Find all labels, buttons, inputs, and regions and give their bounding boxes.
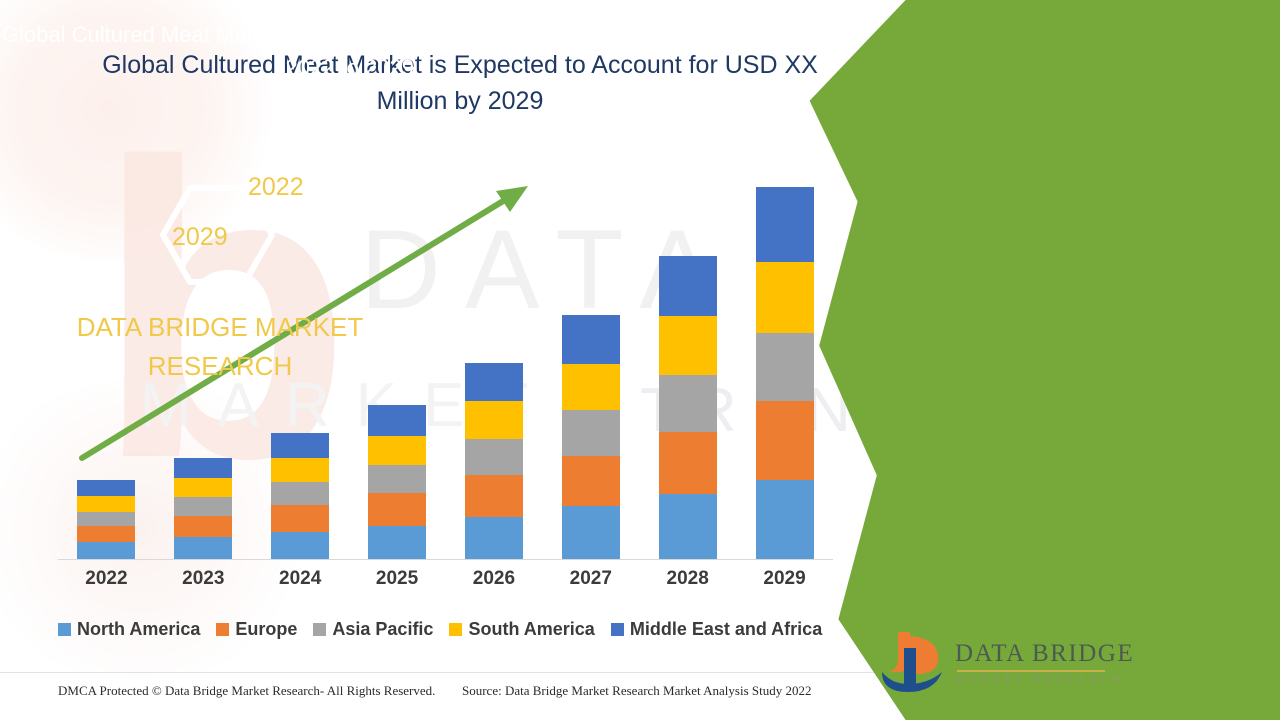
bar-segment	[271, 433, 329, 458]
legend-label: Asia Pacific	[332, 619, 433, 640]
bar-2025	[368, 405, 426, 559]
bar-segment	[659, 432, 717, 495]
bar-segment	[465, 475, 523, 516]
bar-segment	[77, 542, 135, 559]
x-axis-line	[58, 559, 833, 560]
logo-divider	[957, 670, 1105, 672]
bar-segment	[562, 506, 620, 559]
bar-segment	[368, 405, 426, 435]
bar-segment	[271, 458, 329, 482]
x-axis-label-2026: 2026	[465, 568, 523, 590]
bar-segment	[465, 439, 523, 475]
bar-segment	[174, 478, 232, 497]
legend-item[interactable]: North America	[58, 619, 200, 640]
bar-segment	[77, 496, 135, 511]
legend-label: Middle East and Africa	[630, 619, 822, 640]
logo-mark-icon	[880, 628, 960, 696]
logo-subtitle: MARKET RESEARCH	[955, 673, 1134, 685]
legend-swatch-icon	[216, 623, 229, 636]
legend-swatch-icon	[313, 623, 326, 636]
x-axis-labels: 20222023202420252026202720282029	[58, 568, 833, 598]
bar-segment	[756, 187, 814, 262]
legend-label: South America	[468, 619, 594, 640]
x-axis-label-2022: 2022	[77, 568, 135, 590]
bar-segment	[659, 494, 717, 559]
legend-label: North America	[77, 619, 200, 640]
bar-segment	[174, 537, 232, 559]
footer-divider	[0, 672, 960, 673]
bar-segment	[659, 375, 717, 432]
x-axis-label-2028: 2028	[659, 568, 717, 590]
bar-segment	[174, 458, 232, 478]
bar-segment	[756, 262, 814, 333]
hexagon-label-start: 2022	[248, 173, 304, 202]
bar-segment	[562, 315, 620, 364]
bar-2022	[77, 480, 135, 559]
hexagon-shapes	[160, 130, 380, 290]
bar-segment	[368, 465, 426, 493]
bar-segment	[77, 512, 135, 526]
branding-panel	[800, 0, 1280, 720]
x-axis-label-2029: 2029	[756, 568, 814, 590]
legend-swatch-icon	[449, 623, 462, 636]
legend-label: Europe	[235, 619, 297, 640]
bar-2026	[465, 363, 523, 559]
bar-segment	[756, 480, 814, 559]
bar-segment	[465, 363, 523, 401]
x-axis-label-2023: 2023	[174, 568, 232, 590]
footer-copyright: DMCA Protected © Data Bridge Market Rese…	[58, 683, 435, 699]
bar-segment	[562, 364, 620, 411]
bar-2029	[756, 187, 814, 559]
bar-segment	[659, 256, 717, 317]
bar-segment	[271, 532, 329, 559]
panel-title: Global Cultured Meat Market, By Regions,…	[0, 18, 420, 84]
bar-segment	[562, 456, 620, 507]
hexagon-badges: 2022 2029	[160, 130, 380, 290]
legend-item[interactable]: Europe	[216, 619, 297, 640]
bar-segment	[368, 436, 426, 465]
bar-segment	[756, 401, 814, 480]
bar-segment	[77, 480, 135, 496]
bar-segment	[465, 517, 523, 559]
brand-name: DATA BRIDGE MARKET RESEARCH	[20, 308, 420, 386]
legend-item[interactable]: Middle East and Africa	[611, 619, 822, 640]
bar-segment	[271, 505, 329, 531]
chart-legend: North AmericaEuropeAsia PacificSouth Ame…	[58, 615, 848, 643]
hexagon-label-end: 2029	[172, 223, 228, 252]
x-axis-label-2025: 2025	[368, 568, 426, 590]
footer-source: Source: Data Bridge Market Research Mark…	[462, 683, 811, 699]
logo-wordmark: DATA BRIDGE MARKET RESEARCH	[955, 640, 1134, 685]
bar-segment	[174, 516, 232, 537]
bar-segment	[368, 526, 426, 559]
bar-segment	[659, 316, 717, 375]
x-axis-label-2027: 2027	[562, 568, 620, 590]
bar-segment	[465, 401, 523, 438]
legend-item[interactable]: Asia Pacific	[313, 619, 433, 640]
logo-title: DATA BRIDGE	[955, 640, 1134, 668]
bar-segment	[562, 410, 620, 455]
bar-2023	[174, 458, 232, 559]
bar-segment	[174, 497, 232, 515]
legend-swatch-icon	[58, 623, 71, 636]
bar-segment	[77, 526, 135, 542]
bar-segment	[368, 493, 426, 525]
legend-item[interactable]: South America	[449, 619, 594, 640]
bar-2027	[562, 315, 620, 559]
x-axis-label-2024: 2024	[271, 568, 329, 590]
legend-swatch-icon	[611, 623, 624, 636]
bar-2028	[659, 256, 717, 559]
bar-segment	[271, 482, 329, 505]
bar-2024	[271, 433, 329, 559]
bar-segment	[756, 333, 814, 402]
